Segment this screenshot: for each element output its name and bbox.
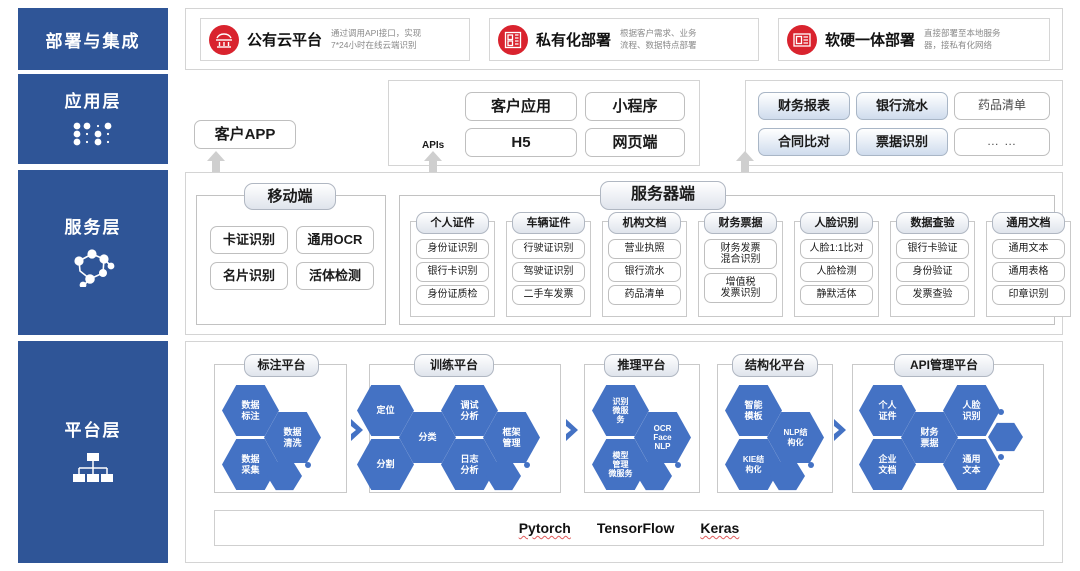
server-item[interactable]: 驾驶证识别 bbox=[512, 262, 585, 282]
desc-line-2: 流程、数据特点部署 bbox=[620, 40, 697, 51]
rail-item-application[interactable]: 应用层 bbox=[18, 74, 168, 164]
mobile-item-business-card[interactable]: 名片识别 bbox=[210, 262, 288, 290]
deployment-card-private-deploy[interactable]: 私有化部署 根据客户需求、业务 流程、数据特点部署 bbox=[489, 18, 759, 61]
server-item[interactable]: 通用文本 bbox=[992, 239, 1065, 259]
rail-item-service[interactable]: 服务层 bbox=[18, 170, 168, 335]
deployment-card-desc: 根据客户需求、业务 流程、数据特点部署 bbox=[620, 28, 697, 51]
platform-node-dot bbox=[998, 409, 1004, 415]
server-item[interactable]: 静默活体 bbox=[800, 285, 873, 305]
server-group-title-face: 人脸识别 bbox=[800, 212, 873, 234]
server-item[interactable]: 银行卡识别 bbox=[416, 262, 489, 282]
server-item[interactable]: 银行流水 bbox=[608, 262, 681, 282]
platform-layer-panel: 标注平台 数据 标注 数据 采集 数据 清洗 训练平台 定位 分割 分类 调试 … bbox=[185, 341, 1063, 563]
server-item[interactable]: 药品清单 bbox=[608, 285, 681, 305]
deployment-card-title: 公有云平台 bbox=[247, 29, 322, 50]
platform-group-title-structuring: 结构化平台 bbox=[732, 354, 818, 377]
mobile-group-title: 移动端 bbox=[244, 183, 336, 210]
deployment-card-title: 软硬一体部署 bbox=[825, 29, 915, 50]
platform-group-title-inference: 推理平台 bbox=[604, 354, 679, 377]
api-channel-web[interactable]: 网页端 bbox=[585, 128, 685, 157]
hardware-seal-icon bbox=[787, 25, 817, 55]
server-item[interactable]: 增值税 发票识别 bbox=[704, 273, 777, 303]
deployment-card-desc: 通过调用API接口，实现 7*24小时在线云端识别 bbox=[331, 28, 421, 51]
server-item[interactable]: 身份验证 bbox=[896, 262, 969, 282]
business-item-invoice-recognition[interactable]: 票据识别 bbox=[856, 128, 948, 156]
org-tree-icon bbox=[70, 450, 116, 489]
chevron-right-icon bbox=[564, 418, 580, 447]
server-group-title-org-doc: 机构文档 bbox=[608, 212, 681, 234]
server-item[interactable]: 身份证识别 bbox=[416, 239, 489, 259]
framework-tensorflow[interactable]: TensorFlow bbox=[597, 520, 675, 536]
platform-group-title-api-management: API管理平台 bbox=[894, 354, 994, 377]
server-item[interactable]: 行驶证识别 bbox=[512, 239, 585, 259]
server-item[interactable]: 通用表格 bbox=[992, 262, 1065, 282]
platform-node-dot bbox=[675, 462, 681, 468]
deployment-card-desc: 直接部署至本地服务 器，接私有化网络 bbox=[924, 28, 1001, 51]
business-item-bank-statement[interactable]: 银行流水 bbox=[856, 92, 948, 120]
mobile-item-general-ocr[interactable]: 通用OCR bbox=[296, 226, 374, 254]
server-item[interactable]: 银行卡验证 bbox=[896, 239, 969, 259]
business-item-drug-list[interactable]: 药品清单 bbox=[954, 92, 1050, 120]
server-item[interactable]: 发票查验 bbox=[896, 285, 969, 305]
deployment-card-public-cloud[interactable]: 公有云平台 通过调用API接口，实现 7*24小时在线云端识别 bbox=[200, 18, 470, 61]
architecture-diagram: 部署与集成 应用层 服务层 bbox=[0, 0, 1080, 571]
business-item-financial-report[interactable]: 财务报表 bbox=[758, 92, 850, 120]
server-group-title-finance-bill: 财务票据 bbox=[704, 212, 777, 234]
business-item-contract-compare[interactable]: 合同比对 bbox=[758, 128, 850, 156]
rail-label: 平台层 bbox=[65, 416, 122, 441]
server-item[interactable]: 身份证质检 bbox=[416, 285, 489, 305]
desc-line-1: 根据客户需求、业务 bbox=[620, 28, 697, 39]
platform-group-title-training: 训练平台 bbox=[414, 354, 494, 377]
mobile-item-liveness[interactable]: 活体检测 bbox=[296, 262, 374, 290]
desc-line-1: 直接部署至本地服务 bbox=[924, 28, 1001, 39]
rail-label: 应用层 bbox=[65, 87, 122, 112]
platform-node-dot bbox=[305, 462, 311, 468]
private-deploy-seal-icon bbox=[498, 25, 528, 55]
server-item[interactable]: 人脸检测 bbox=[800, 262, 873, 282]
platform-group-title-annotation: 标注平台 bbox=[244, 354, 319, 377]
apis-caption: APIs bbox=[422, 140, 444, 151]
business-item-more[interactable]: … … bbox=[954, 128, 1050, 156]
mobile-item-card-ocr[interactable]: 卡证识别 bbox=[210, 226, 288, 254]
service-layer-panel: 移动端 卡证识别 通用OCR 名片识别 活体检测 服务器端 个人证件 身份证识别… bbox=[185, 172, 1063, 335]
desc-line-1: 通过调用API接口，实现 bbox=[331, 28, 421, 39]
mobile-group bbox=[196, 195, 386, 325]
rail-label: 部署与集成 bbox=[46, 27, 141, 52]
rail-item-deployment[interactable]: 部署与集成 bbox=[18, 8, 168, 70]
server-group-title-vehicle-id: 车辆证件 bbox=[512, 212, 585, 234]
business-scenario-panel: 财务报表 银行流水 药品清单 合同比对 票据识别 … … bbox=[745, 80, 1063, 166]
dots-grid-icon bbox=[72, 121, 114, 152]
frameworks-bar: Pytorch TensorFlow Keras bbox=[214, 510, 1044, 546]
server-item[interactable]: 营业执照 bbox=[608, 239, 681, 259]
desc-line-2: 7*24小时在线云端识别 bbox=[331, 40, 421, 51]
api-channel-customer-app[interactable]: 客户应用 bbox=[465, 92, 577, 121]
deployment-panel: 公有云平台 通过调用API接口，实现 7*24小时在线云端识别 私有化部署 bbox=[185, 8, 1063, 70]
platform-node-dot bbox=[524, 462, 530, 468]
desc-line-2: 器，接私有化网络 bbox=[924, 40, 1001, 51]
framework-keras[interactable]: Keras bbox=[700, 520, 739, 536]
rail-item-platform[interactable]: 平台层 bbox=[18, 341, 168, 563]
server-item[interactable]: 二手车发票 bbox=[512, 285, 585, 305]
deployment-card-title: 私有化部署 bbox=[536, 29, 611, 50]
public-cloud-seal-icon bbox=[209, 25, 239, 55]
chevron-right-icon bbox=[349, 418, 365, 447]
api-channel-h5[interactable]: H5 bbox=[465, 128, 577, 157]
network-nodes-icon bbox=[70, 247, 116, 292]
deployment-card-hardware[interactable]: 软硬一体部署 直接部署至本地服务 器，接私有化网络 bbox=[778, 18, 1050, 61]
server-item[interactable]: 印章识别 bbox=[992, 285, 1065, 305]
server-group-title-data-verify: 数据查验 bbox=[896, 212, 969, 234]
server-item[interactable]: 人脸1:1比对 bbox=[800, 239, 873, 259]
framework-pytorch[interactable]: Pytorch bbox=[519, 520, 571, 536]
client-app-pill[interactable]: 客户APP bbox=[194, 120, 296, 149]
server-group-title-general-doc: 通用文档 bbox=[992, 212, 1065, 234]
platform-node-dot bbox=[998, 454, 1004, 460]
platform-node-dot bbox=[808, 462, 814, 468]
server-group-title-personal-id: 个人证件 bbox=[416, 212, 489, 234]
chevron-right-icon bbox=[832, 418, 848, 447]
api-channel-miniprogram[interactable]: 小程序 bbox=[585, 92, 685, 121]
server-group-title: 服务器端 bbox=[600, 181, 726, 210]
rail-label: 服务层 bbox=[65, 213, 122, 238]
server-item[interactable]: 财务发票 混合识别 bbox=[704, 239, 777, 269]
